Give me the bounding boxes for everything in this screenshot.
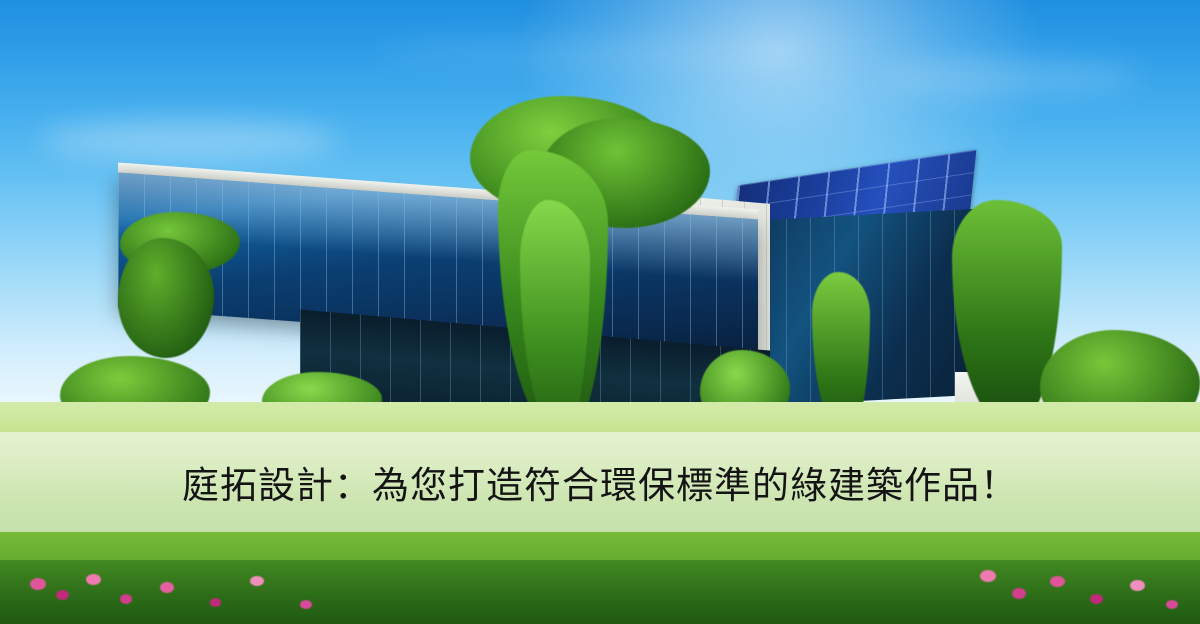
foreground-flower-bed xyxy=(0,560,1200,624)
caption-bar: 庭拓設計：為您打造符合環保標準的綠建築作品！ xyxy=(0,432,1200,532)
hero-image: 庭拓設計：為您打造符合環保標準的綠建築作品！ xyxy=(0,0,1200,624)
caption-text: 庭拓設計：為您打造符合環保標準的綠建築作品！ xyxy=(182,455,1018,509)
vertical-garden-left xyxy=(118,238,214,358)
